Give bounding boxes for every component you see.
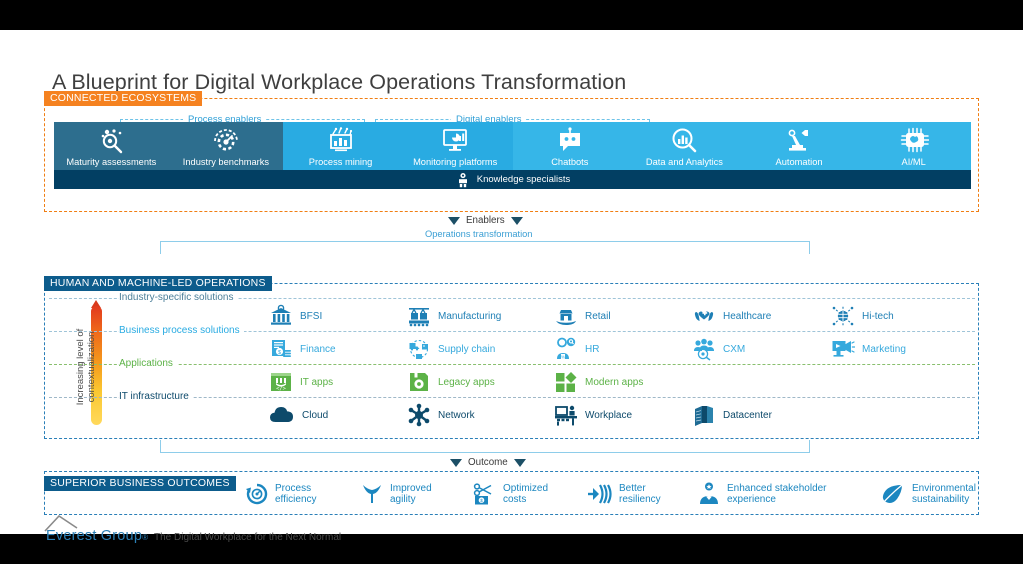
outcome-label: Processefficiency [275,483,317,506]
item-cxm[interactable]: CXM [692,334,745,364]
logo-registered-mark: ® [142,533,148,542]
everest-group-logo: Everest Group ® [46,528,148,544]
enabler-label: Industry benchmarks [183,157,269,167]
connected-ecosystems-section: CONNECTED ECOSYSTEMS Process enablers Di… [44,98,979,212]
it-apps-code-icon: </> [269,370,293,394]
item-label: Supply chain [438,344,495,355]
enabler-label: Chatbots [551,157,588,167]
connected-ecosystems-tag: CONNECTED ECOSYSTEMS [44,91,202,106]
improved-agility-icon [360,482,384,506]
enabler-automation[interactable]: Automation [742,122,857,170]
outcome-arrow-left-icon [450,459,462,467]
enabler-ai-ml[interactable]: AI/ML [856,122,971,170]
item-label: BFSI [300,311,322,322]
factory-crane-icon [407,304,431,328]
enabler-data-and-analytics[interactable]: Data and Analytics [627,122,742,170]
layer-label: IT infrastructure [119,391,193,402]
item-label: Marketing [862,344,906,355]
item-label: Workplace [585,410,632,421]
retail-store-icon [554,304,578,328]
knowledge-specialists-bar[interactable]: Knowledge specialists [54,170,971,189]
item-network[interactable]: Network [407,400,475,430]
analytics-magnifier-icon [669,127,699,154]
enabler-label: AI/ML [902,157,926,167]
hitech-network-icon [831,304,855,328]
slide-canvas: A Blueprint for Digital Workplace Operat… [0,30,1023,534]
outcome-connector-bracket [160,440,810,453]
outcome-improved-agility[interactable]: Improvedagility [360,477,432,511]
outcome-label: Enhanced stakeholderexperience [727,483,827,506]
enabler-label: Maturity assessments [66,157,156,167]
layer-label: Business process solutions [119,325,244,336]
item-marketing[interactable]: Marketing [831,334,906,364]
enabler-label: Monitoring platforms [413,157,497,167]
item-label: Network [438,410,475,421]
item-label: IT apps [300,377,333,388]
enabler-label: Data and Analytics [646,157,723,167]
outcome-arrow-label: Outcome [468,457,508,468]
ai-brain-chip-icon [899,127,929,154]
enabler-process-mining[interactable]: Process mining [283,122,398,170]
gauge-benchmark-icon [211,127,241,154]
layer-items: BFSI Manufacturing [269,301,969,331]
layer-items: </> IT apps Legacy apps [269,367,969,397]
process-efficiency-icon [245,482,269,506]
outcome-arrow-right-icon [514,459,526,467]
item-retail[interactable]: Retail [554,301,611,331]
superior-business-outcomes-section: SUPERIOR BUSINESS OUTCOMES Processeffici… [44,471,979,515]
item-label: HR [585,344,599,355]
knowledge-specialists-label: Knowledge specialists [477,174,570,185]
maturity-assessment-icon [96,127,126,154]
sustainability-leaf-icon [880,482,906,506]
item-workplace[interactable]: Workplace [554,400,632,430]
outcome-label: Environmentalsustainability [912,483,976,506]
svg-text:</>: </> [276,386,286,392]
finance-invoice-icon: $ [269,337,293,361]
human-machine-tag: HUMAN AND MACHINE-LED OPERATIONS [44,276,272,291]
layer-label: Applications [119,358,177,369]
modern-apps-blocks-icon [554,370,578,394]
item-healthcare[interactable]: Healthcare [692,301,771,331]
layer-business-process-solutions: Business process solutions $ Finance [49,331,975,364]
item-modern-apps[interactable]: Modern apps [554,367,643,397]
cloud-icon [269,404,295,426]
bank-icon [269,304,293,328]
item-finance[interactable]: $ Finance [269,334,336,364]
outcome-enhanced-stakeholder-experience[interactable]: Enhanced stakeholderexperience [697,477,827,511]
enablers-arrow-group: Enablers [448,215,523,226]
item-manufacturing[interactable]: Manufacturing [407,301,501,331]
item-label: Finance [300,344,336,355]
item-label: Legacy apps [438,377,495,388]
outcome-label: Optimizedcosts [503,483,548,506]
footer-tagline: The Digital Workplace for the Next Norma… [154,532,341,543]
svg-text:%: % [561,354,565,359]
chatbot-icon [555,127,585,154]
svg-text:$: $ [278,350,281,356]
enabler-industry-benchmarks[interactable]: Industry benchmarks [169,122,284,170]
monitor-dashboard-icon [440,127,470,154]
top-letterbox-bar [0,0,1023,30]
outcome-items: Processefficiency Improvedagility $ [245,477,971,511]
item-legacy-apps[interactable]: Legacy apps [407,367,495,397]
datacenter-racks-icon [692,403,716,427]
enablers-row: Maturity assessments Industry benchmarks [54,122,971,170]
network-nodes-icon [407,403,431,427]
superior-business-outcomes-tag: SUPERIOR BUSINESS OUTCOMES [44,476,236,491]
item-label: Modern apps [585,377,643,388]
hr-people-icon: % [554,337,578,361]
outcome-label: Improvedagility [390,483,432,506]
item-label: Retail [585,311,611,322]
item-datacenter[interactable]: Datacenter [692,400,772,430]
layer-items: Cloud Network [269,400,969,430]
enabler-label: Automation [776,157,823,167]
enablers-connector-bracket [160,241,810,254]
item-label: Datacenter [723,410,772,421]
robot-arm-icon [784,127,814,154]
bar-chart-mining-icon [326,127,356,154]
layer-it-infrastructure: IT infrastructure Cloud [49,397,975,430]
layer-divider [49,364,975,365]
outcome-arrow-group: Outcome [450,457,526,468]
outcome-optimized-costs[interactable]: $ Optimizedcosts [473,477,548,511]
outcome-process-efficiency[interactable]: Processefficiency [245,477,317,511]
enabler-chatbots[interactable]: Chatbots [513,122,628,170]
supply-chain-icon [407,337,431,361]
layer-items: $ Finance [269,334,969,364]
better-resiliency-icon [587,482,613,506]
layer-label: Industry-specific solutions [119,292,238,303]
outcome-environmental-sustainability[interactable]: Environmentalsustainability [880,477,976,511]
human-machine-operations-section: HUMAN AND MACHINE-LED OPERATIONS Increas… [44,283,979,439]
item-hi-tech[interactable]: Hi-tech [831,301,894,331]
enabler-label: Process mining [309,157,373,167]
workplace-desk-icon [554,403,578,427]
item-label: Manufacturing [438,311,501,322]
item-bfsi[interactable]: BFSI [269,301,322,331]
outcome-better-resiliency[interactable]: Betterresiliency [587,477,661,511]
enabler-maturity-assessments[interactable]: Maturity assessments [54,122,169,170]
svg-text:$: $ [480,498,483,503]
item-it-apps[interactable]: </> IT apps [269,367,333,397]
cxm-audience-icon [692,337,716,361]
item-label: CXM [723,344,745,355]
legacy-floppy-icon [407,370,431,394]
enablers-arrow-left-icon [448,217,460,225]
outcome-label: Betterresiliency [619,483,661,506]
enablers-arrow-right-icon [511,217,523,225]
knowledge-specialist-icon [455,172,471,188]
solution-layers: Industry-specific solutions BFSI [49,290,975,434]
item-label: Hi-tech [862,311,894,322]
optimized-costs-icon: $ [473,482,497,506]
stakeholder-experience-icon [697,482,721,506]
item-cloud[interactable]: Cloud [269,400,328,430]
item-supply-chain[interactable]: Supply chain [407,334,495,364]
item-label: Healthcare [723,311,771,322]
enabler-monitoring-platforms[interactable]: Monitoring platforms [398,122,513,170]
healthcare-hands-heart-icon [692,304,716,328]
marketing-megaphone-icon [831,337,855,361]
footer: Everest Group ® The Digital Workplace fo… [46,528,341,544]
enablers-arrow-label: Enablers [466,215,505,226]
everest-peak-icon [44,514,78,532]
item-label: Cloud [302,410,328,421]
item-hr[interactable]: % HR [554,334,599,364]
operations-transformation-label: Operations transformation [425,229,532,239]
